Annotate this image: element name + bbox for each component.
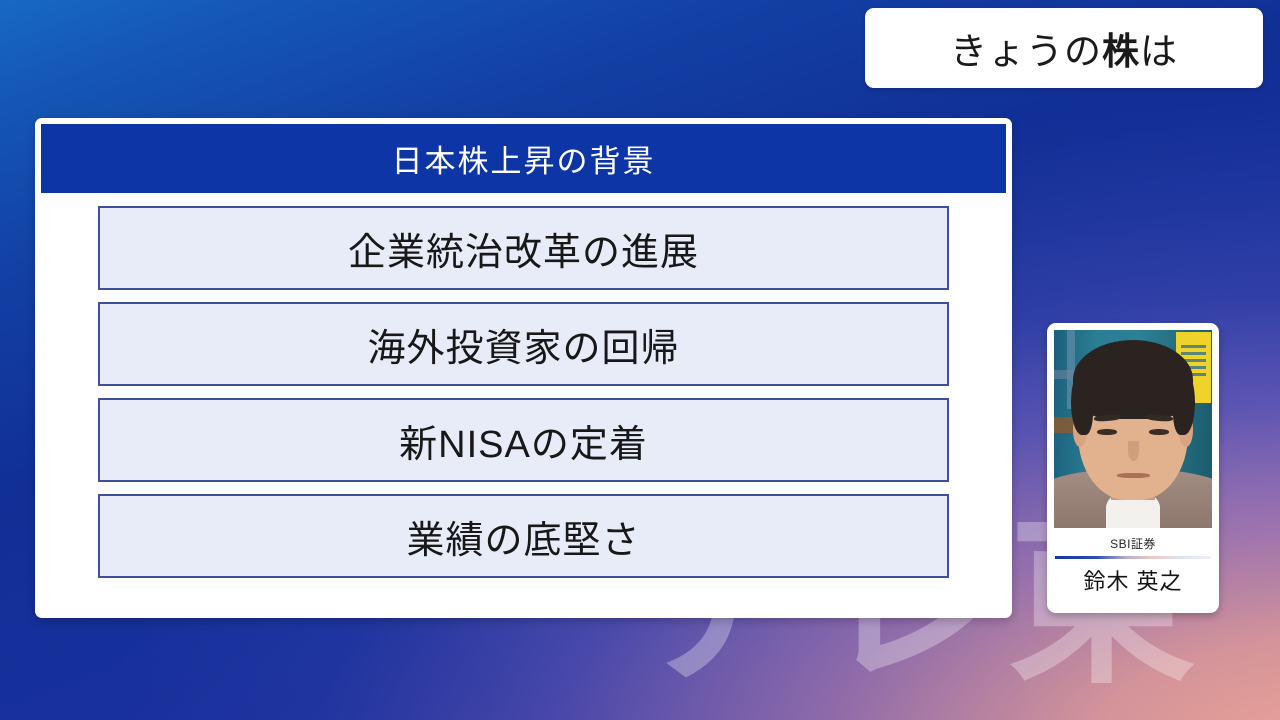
presenter-hair-side-right: [1173, 370, 1195, 435]
presenter-photo: [1054, 330, 1212, 528]
card-title-bar: 日本株上昇の背景: [41, 124, 1006, 193]
presenter-card: SBI証券 鈴木 英之: [1047, 323, 1219, 613]
program-title-banner: きょうの株は: [865, 8, 1263, 88]
presenter-organization: SBI証券: [1054, 528, 1212, 556]
list-item: 新NISAの定着: [98, 398, 949, 482]
presenter-hair-side-left: [1071, 370, 1093, 435]
list-item: 業績の底堅さ: [98, 494, 949, 578]
list-item-label: 企業統治改革の進展: [348, 221, 699, 276]
factor-list: 企業統治改革の進展 海外投資家の回帰 新NISAの定着 業績の底堅さ: [41, 193, 1006, 578]
main-content-card: 日本株上昇の背景 企業統治改革の進展 海外投資家の回帰 新NISAの定着 業績の…: [35, 118, 1012, 618]
program-title-text: きょうの株は: [950, 21, 1178, 75]
presenter-divider: [1055, 556, 1211, 559]
card-title-text: 日本株上昇の背景: [392, 136, 656, 181]
presenter-name: 鈴木 英之: [1054, 564, 1212, 596]
broadcast-graphic-stage: テレ東 きょうの株は 日本株上昇の背景 企業統治改革の進展 海外投資家の回帰 新…: [0, 0, 1280, 720]
list-item-label: 海外投資家の回帰: [367, 317, 679, 372]
list-item: 企業統治改革の進展: [98, 206, 949, 290]
list-item-label: 業績の底堅さ: [406, 509, 640, 564]
program-title-keyword: 株: [1102, 31, 1140, 72]
program-title-prefix: きょうの: [950, 31, 1102, 72]
presenter-mouth: [1117, 473, 1150, 478]
presenter-eye-right: [1149, 429, 1170, 435]
list-item: 海外投資家の回帰: [98, 302, 949, 386]
program-title-suffix: は: [1140, 31, 1178, 72]
list-item-label: 新NISAの定着: [399, 413, 648, 468]
presenter-eye-left: [1097, 429, 1118, 435]
